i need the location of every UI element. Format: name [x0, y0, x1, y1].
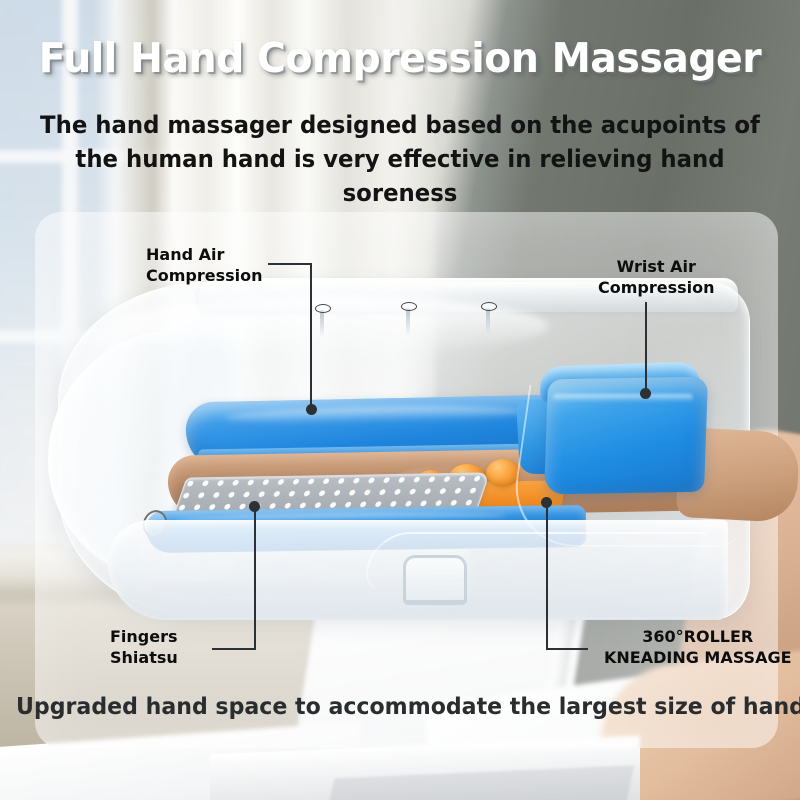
shell-post-icon: [406, 308, 410, 334]
product-illustration: [48, 270, 758, 630]
shell-post-icon: [486, 308, 490, 334]
callout-wrist-air-compression: Wrist Air Compression: [598, 256, 715, 298]
shell-post-icon: [320, 310, 324, 336]
shell-bevel-side: [507, 385, 762, 547]
callout-line-2: Compression: [598, 277, 715, 298]
subtitle-line-2: the human hand is very effective in reli…: [20, 142, 780, 210]
leader-line-hand-horizontal: [268, 263, 312, 265]
callout-line-2: Compression: [146, 265, 263, 286]
callout-fingers-shiatsu: Fingers Shiatsu: [110, 626, 178, 668]
page-subtitle: The hand massager designed based on the …: [20, 108, 780, 210]
leader-dot-roller: [541, 497, 552, 508]
leader-line-hand-vertical: [310, 263, 312, 408]
footer-caption: Upgraded hand space to accommodate the l…: [16, 694, 784, 720]
shell-handle-bracket: [403, 555, 467, 605]
leader-line-roller-horizontal: [546, 648, 588, 650]
leader-dot-hand: [306, 404, 317, 415]
product-infographic: Full Hand Compression Massager The hand …: [0, 0, 800, 800]
callout-hand-air-compression: Hand Air Compression: [146, 244, 263, 286]
callout-line-1: Wrist Air: [598, 256, 715, 277]
callout-roller-kneading: 360°ROLLER KNEADING MASSAGE: [604, 626, 792, 668]
leader-dot-fingers: [249, 501, 260, 512]
leader-line-fingers-vertical: [254, 506, 256, 650]
leader-line-roller-vertical: [546, 502, 548, 650]
page-title: Full Hand Compression Massager: [16, 34, 784, 82]
callout-line-2: KNEADING MASSAGE: [604, 647, 792, 668]
callout-line-1: Fingers: [110, 626, 178, 647]
leader-dot-wrist: [640, 388, 651, 399]
subtitle-line-1: The hand massager designed based on the …: [20, 108, 780, 142]
callout-line-1: 360°ROLLER: [604, 626, 792, 647]
callout-line-2: Shiatsu: [110, 647, 178, 668]
leader-line-wrist-vertical: [645, 302, 647, 394]
leader-line-fingers-horizontal: [212, 648, 256, 650]
callout-line-1: Hand Air: [146, 244, 263, 265]
